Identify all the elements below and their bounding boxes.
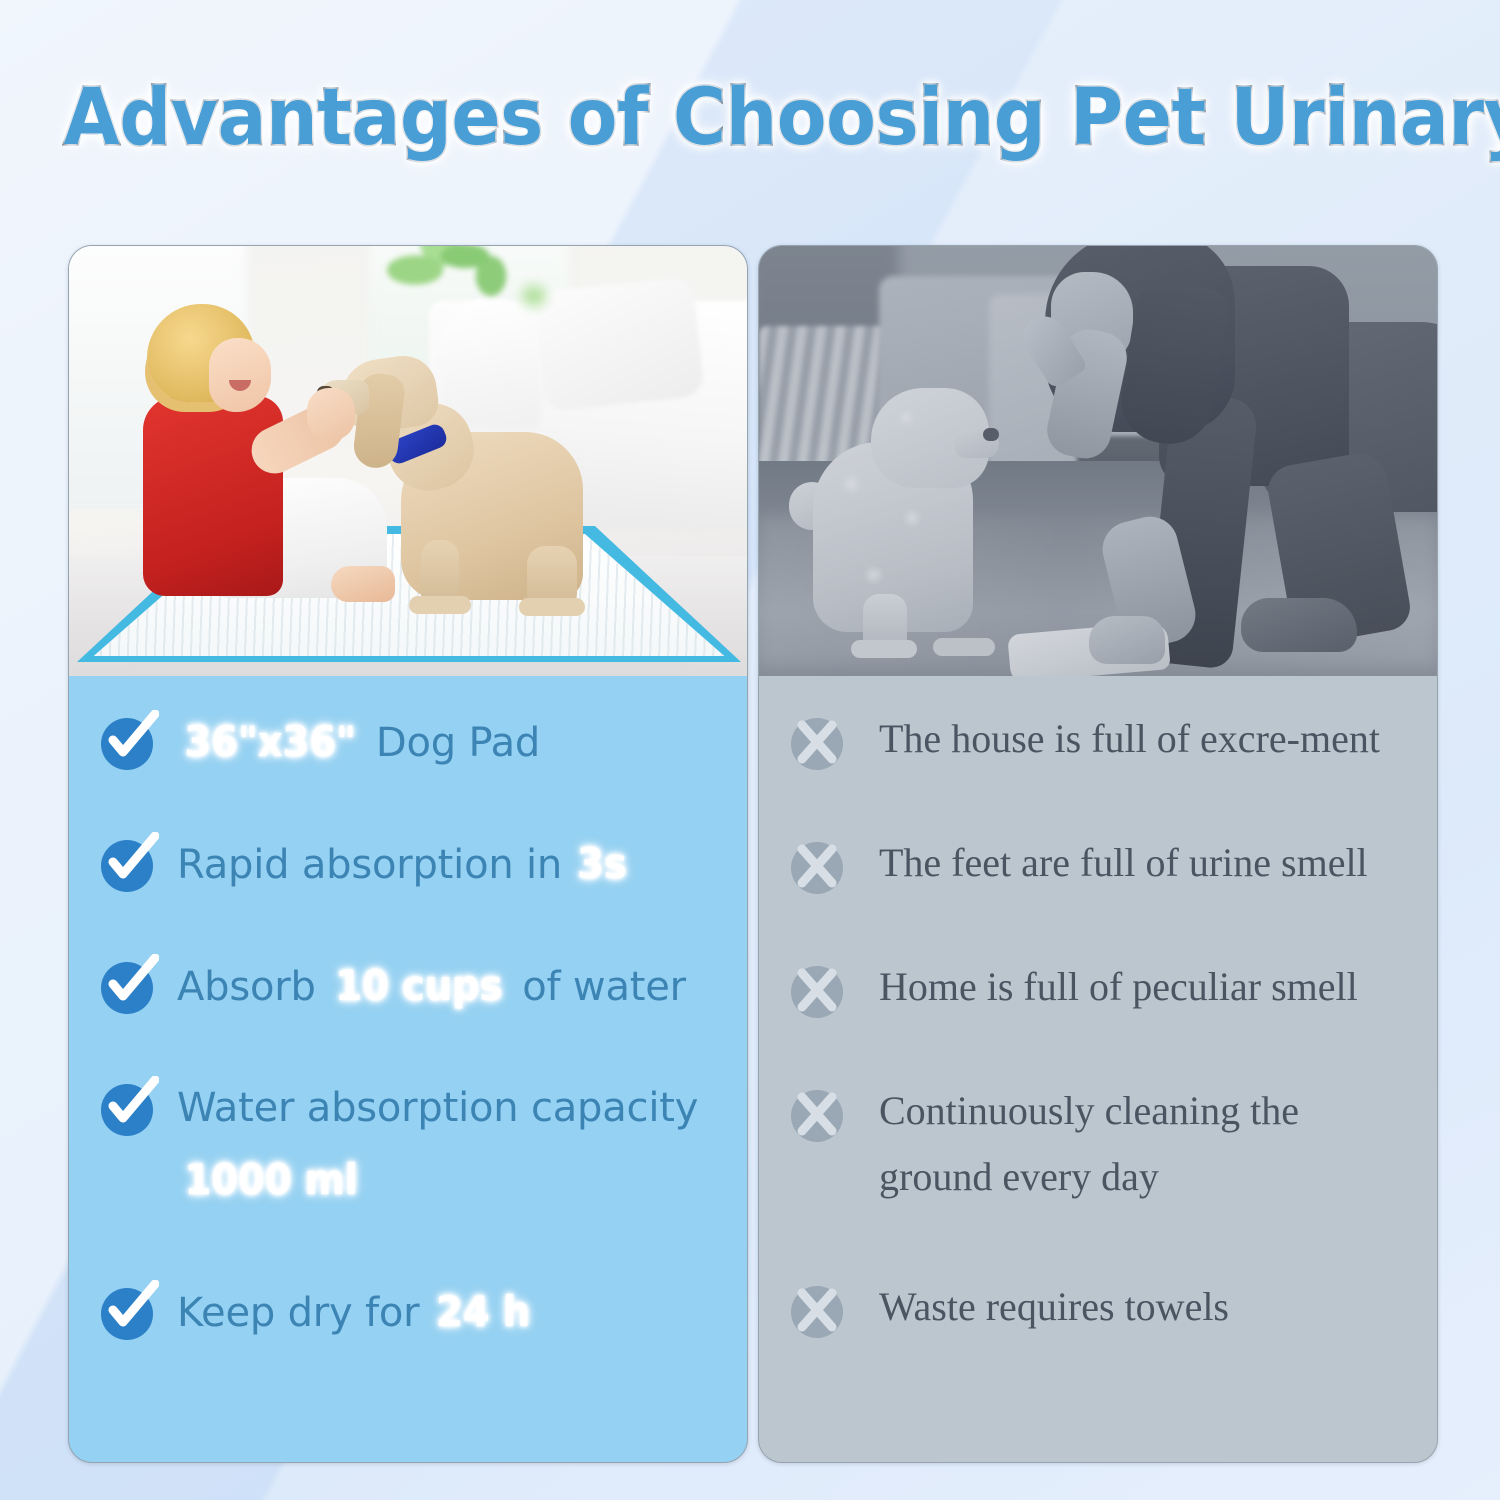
- list-item: Water absorption capacity 1000 ml: [99, 1072, 721, 1272]
- x-circle-icon: [789, 840, 845, 896]
- list-item-text: Home is full of peculiar smell: [879, 954, 1358, 1020]
- list-item-post: Dog Pad: [363, 720, 540, 766]
- con-photo: [759, 246, 1437, 676]
- list-item-text: Keep dry for 24 h: [177, 1276, 534, 1349]
- list-item-text: Water absorption capacity 1000 ml: [177, 1072, 721, 1217]
- check-circle-icon: [99, 838, 155, 894]
- white-dog-nose: [983, 428, 999, 441]
- list-item-text: The house is full of excre-ment: [879, 706, 1380, 772]
- list-item-pre: Water absorption capacity: [177, 1085, 698, 1131]
- list-item: Continuously cleaning the ground every d…: [789, 1078, 1411, 1268]
- list-item-highlight: 36"x36": [184, 706, 355, 778]
- pro-list: 36"x36" Dog Pad Rapid absorption in 3s: [69, 676, 747, 1394]
- list-item-text: Rapid absorption in 3s: [177, 828, 628, 901]
- list-item-highlight: 3s: [577, 828, 627, 900]
- list-item-post: of water: [510, 964, 686, 1010]
- boy-face: [209, 338, 271, 412]
- list-item-text: The feet are full of urine smell: [879, 830, 1368, 896]
- list-item: The feet are full of urine smell: [789, 830, 1411, 948]
- list-item-highlight: 10 cups: [335, 950, 502, 1022]
- infographic-page: Advantages of Choosing Pet Urinary Mats: [0, 0, 1500, 1500]
- x-circle-icon: [789, 964, 845, 1020]
- page-title-container: Advantages of Choosing Pet Urinary Mats: [0, 72, 1500, 164]
- puppy-paw-back: [519, 598, 585, 616]
- list-item: Absorb 10 cups of water: [99, 950, 721, 1068]
- list-item-text: Waste requires towels: [879, 1274, 1229, 1340]
- list-item-pre: Absorb: [177, 964, 328, 1010]
- photo-plant-small: [489, 256, 579, 336]
- check-circle-icon: [99, 716, 155, 772]
- x-circle-icon: [789, 716, 845, 772]
- list-item-pre: Rapid absorption in: [177, 842, 575, 888]
- page-title: Advantages of Choosing Pet Urinary Mats: [64, 72, 1500, 164]
- woman-shoe: [1241, 598, 1357, 652]
- list-item: 36"x36" Dog Pad: [99, 706, 721, 824]
- woman-hand: [1089, 616, 1165, 664]
- list-item: The house is full of excre-ment: [789, 706, 1411, 824]
- boy-shirt: [143, 396, 283, 596]
- list-item-text: 36"x36" Dog Pad: [177, 706, 540, 779]
- con-panel: The house is full of excre-ment The feet…: [758, 245, 1438, 1463]
- con-list: The house is full of excre-ment The feet…: [759, 676, 1437, 1392]
- list-item-pre: Keep dry for: [177, 1290, 432, 1336]
- x-circle-icon: [789, 1088, 845, 1144]
- list-item: Keep dry for 24 h: [99, 1276, 721, 1394]
- list-item: Waste requires towels: [789, 1274, 1411, 1392]
- check-circle-icon: [99, 1286, 155, 1342]
- boy-foot: [331, 566, 395, 602]
- x-circle-icon: [789, 1284, 845, 1340]
- list-item-text: Continuously cleaning the ground every d…: [879, 1078, 1349, 1210]
- check-circle-icon: [99, 1082, 155, 1138]
- boy-hand: [307, 388, 355, 440]
- pro-panel: 36"x36" Dog Pad Rapid absorption in 3s: [68, 245, 748, 1463]
- white-dog-paw-right: [933, 638, 995, 656]
- check-circle-icon: [99, 960, 155, 1016]
- list-item-text: Absorb 10 cups of water: [177, 950, 686, 1023]
- list-item: Home is full of peculiar smell: [789, 954, 1411, 1072]
- pro-photo: [69, 246, 747, 676]
- list-item-highlight: 1000 ml: [185, 1144, 358, 1216]
- list-item-highlight: 24 h: [436, 1276, 530, 1348]
- list-item: Rapid absorption in 3s: [99, 828, 721, 946]
- puppy-paw-front: [409, 596, 471, 614]
- white-dog-paw-left: [851, 640, 917, 658]
